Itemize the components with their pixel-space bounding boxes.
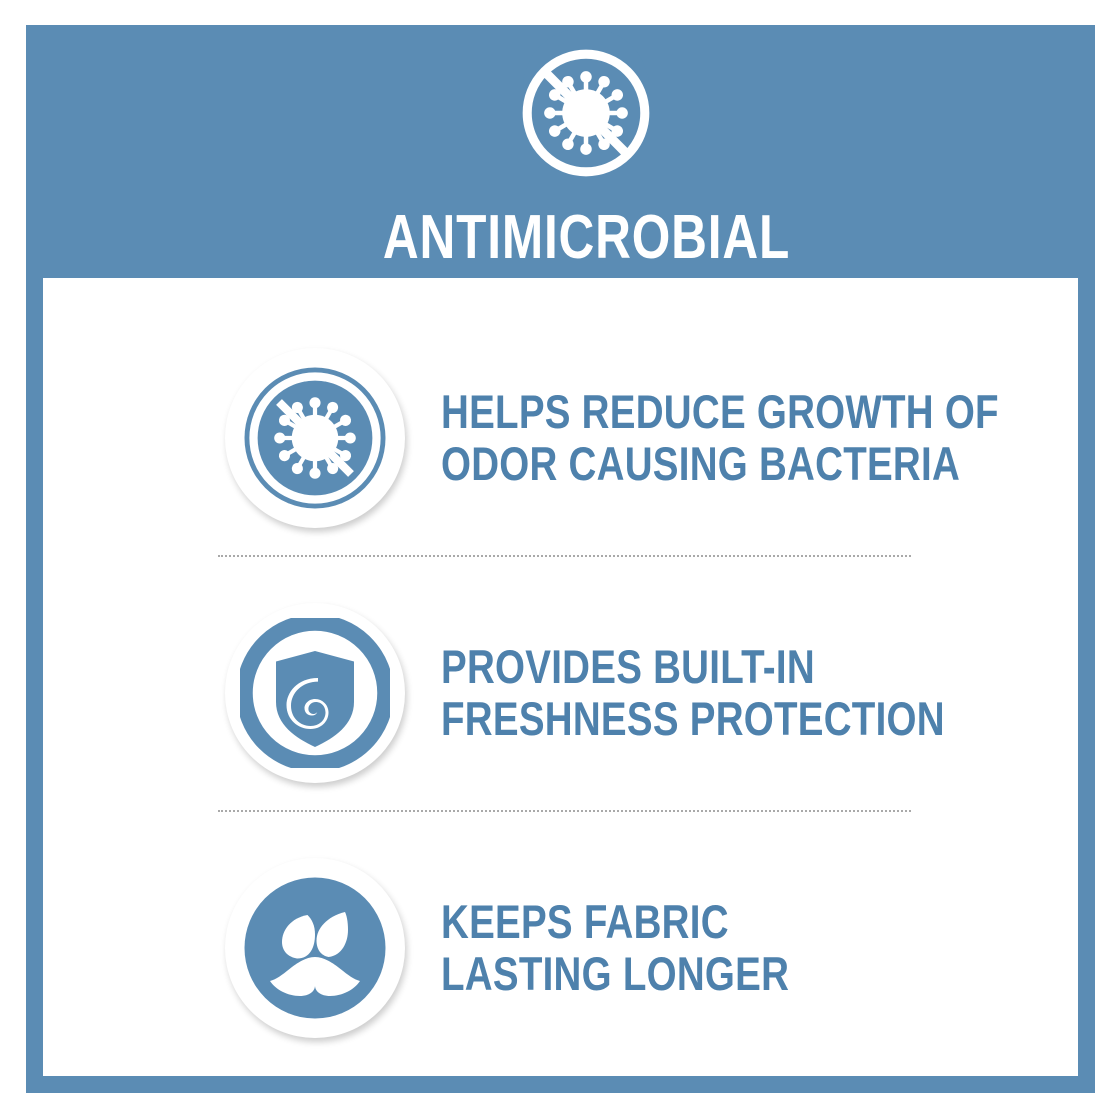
feature-row: KEEPS FABRIC LASTING LONGER — [43, 840, 1078, 1055]
antimicrobial-infographic: ANTIMICROBIAL — [0, 0, 1120, 1120]
leaf-fabric-icon — [225, 858, 405, 1038]
feature-list: HELPS REDUCE GROWTH OF ODOR CAUSING BACT… — [43, 278, 1078, 1076]
header-band: ANTIMICROBIAL — [26, 25, 1095, 278]
feature-text: KEEPS FABRIC LASTING LONGER — [441, 896, 789, 1000]
feature-line-1: PROVIDES BUILT-IN — [441, 641, 945, 693]
feature-line-2: FRESHNESS PROTECTION — [441, 693, 945, 745]
feature-line-1: HELPS REDUCE GROWTH OF — [441, 386, 999, 438]
feature-text: PROVIDES BUILT-IN FRESHNESS PROTECTION — [441, 641, 945, 745]
divider — [218, 810, 911, 812]
shield-freshness-icon — [225, 603, 405, 783]
no-germs-circle-icon — [225, 348, 405, 528]
feature-line-2: ODOR CAUSING BACTERIA — [441, 438, 999, 490]
feature-line-2: LASTING LONGER — [441, 948, 789, 1000]
divider — [218, 555, 911, 557]
no-germs-icon — [516, 43, 656, 183]
feature-row: PROVIDES BUILT-IN FRESHNESS PROTECTION — [43, 585, 1078, 800]
feature-line-1: KEEPS FABRIC — [441, 896, 789, 948]
page-title: ANTIMICROBIAL — [159, 203, 1014, 273]
feature-row: HELPS REDUCE GROWTH OF ODOR CAUSING BACT… — [43, 330, 1078, 545]
feature-text: HELPS REDUCE GROWTH OF ODOR CAUSING BACT… — [441, 386, 999, 490]
